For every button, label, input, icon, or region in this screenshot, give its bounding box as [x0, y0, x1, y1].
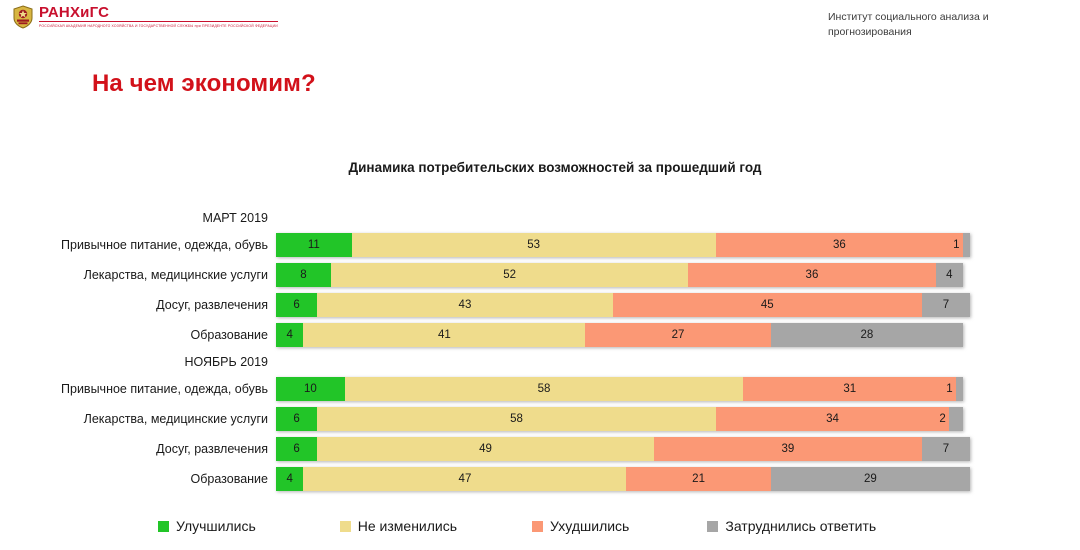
bar-value-label: 45 [761, 299, 774, 311]
bar-value-label: 58 [510, 413, 523, 425]
bar-segment: 21 [626, 467, 770, 491]
bar-segment: 4 [936, 263, 963, 287]
legend-swatch-icon [158, 521, 169, 532]
bar-segment: 49 [317, 437, 654, 461]
chart-row: Досуг, развлечения649397 [0, 434, 1080, 464]
bar-value-label: 1 [953, 239, 959, 251]
legend-label: Не изменились [358, 518, 457, 534]
bar-value-label: 7 [943, 443, 949, 455]
stacked-bar: 1153361 [276, 233, 970, 257]
chart-row-label: Образование [0, 328, 276, 342]
chart-row: Лекарства, медицинские услуги852364 [0, 260, 1080, 290]
bar-value-label: 6 [293, 299, 299, 311]
bar-segment: 47 [303, 467, 626, 491]
group-header: МАРТ 2019 [0, 206, 276, 230]
stacked-bar: 1058311 [276, 377, 970, 401]
bar-value-label: 29 [864, 473, 877, 485]
legend-item[interactable]: Не изменились [340, 518, 457, 534]
stacked-bar: 649397 [276, 437, 970, 461]
legend-item[interactable]: Улучшились [158, 518, 256, 534]
chart-legend: УлучшилисьНе изменилисьУхудшилисьЗатрудн… [0, 518, 1080, 534]
bar-segment: 34 [716, 407, 950, 431]
chart-row: Досуг, развлечения643457 [0, 290, 1080, 320]
bar-segment: 6 [276, 407, 317, 431]
bar-segment: 31 [743, 377, 956, 401]
bar-value-label: 58 [538, 383, 551, 395]
logo-wordmark: РАНХиГС РОССИЙСКАЯ АКАДЕМИЯ НАРОДНОГО ХО… [39, 5, 278, 28]
logo-title: РАНХиГС [39, 5, 278, 20]
bar-segment: 7 [922, 293, 970, 317]
bar-value-label: 39 [781, 443, 794, 455]
legend-swatch-icon [707, 521, 718, 532]
bar-value-label: 11 [308, 239, 320, 251]
legend-item[interactable]: Ухудшились [532, 518, 629, 534]
bar-value-label: 21 [692, 473, 705, 485]
bar-segment: 58 [317, 407, 716, 431]
page-title: На чем экономим? [92, 70, 316, 98]
chart-title: Динамика потребительских возможностей за… [0, 160, 1080, 175]
bar-value-label: 36 [806, 269, 819, 281]
bar-segment: 39 [654, 437, 922, 461]
bar-segment: 1 [963, 233, 970, 257]
bar-segment: 29 [771, 467, 970, 491]
bar-segment: 7 [922, 437, 970, 461]
bar-value-label: 31 [843, 383, 856, 395]
logo-subtitle: РОССИЙСКАЯ АКАДЕМИЯ НАРОДНОГО ХОЗЯЙСТВА … [39, 25, 278, 28]
bar-value-label: 52 [503, 269, 516, 281]
stacked-bar: 4412728 [276, 323, 970, 347]
bar-value-label: 8 [300, 269, 306, 281]
bar-value-label: 41 [438, 329, 451, 341]
bar-value-label: 47 [459, 473, 472, 485]
stacked-bar: 643457 [276, 293, 970, 317]
bar-value-label: 7 [943, 299, 949, 311]
chart-row: Образование4412728 [0, 320, 1080, 350]
legend-swatch-icon [340, 521, 351, 532]
stacked-bar-chart: МАРТ 2019Привычное питание, одежда, обув… [0, 206, 1080, 494]
bar-segment: 8 [276, 263, 331, 287]
bar-segment: 10 [276, 377, 345, 401]
chart-row-label: Досуг, развлечения [0, 298, 276, 312]
chart-row: Лекарства, медицинские услуги658342 [0, 404, 1080, 434]
chart-row-label: Привычное питание, одежда, обувь [0, 382, 276, 396]
slide: РАНХиГС РОССИЙСКАЯ АКАДЕМИЯ НАРОДНОГО ХО… [0, 0, 1080, 550]
bar-segment: 4 [276, 323, 303, 347]
bar-value-label: 53 [527, 239, 540, 251]
legend-swatch-icon [532, 521, 543, 532]
bar-segment: 53 [352, 233, 716, 257]
chart-row-label: Лекарства, медицинские услуги [0, 268, 276, 282]
chart-row: Привычное питание, одежда, обувь1058311 [0, 374, 1080, 404]
bar-segment: 11 [276, 233, 352, 257]
bar-segment: 36 [688, 263, 935, 287]
bar-value-label: 28 [861, 329, 874, 341]
bar-value-label: 4 [287, 473, 293, 485]
chart-row: Образование4472129 [0, 464, 1080, 494]
chart-row-label: Досуг, развлечения [0, 442, 276, 456]
bar-value-label: 6 [293, 413, 299, 425]
bar-segment: 36 [716, 233, 963, 257]
bar-value-label: 36 [833, 239, 846, 251]
bar-value-label: 1 [946, 383, 952, 395]
bar-segment: 58 [345, 377, 744, 401]
bar-segment: 28 [771, 323, 963, 347]
legend-label: Улучшились [176, 518, 256, 534]
legend-label: Ухудшились [550, 518, 629, 534]
bar-segment: 6 [276, 293, 317, 317]
bar-value-label: 10 [304, 383, 317, 395]
bar-segment: 27 [585, 323, 771, 347]
group-header: НОЯБРЬ 2019 [0, 350, 276, 374]
logo-divider [39, 21, 278, 22]
bar-segment: 6 [276, 437, 317, 461]
bar-value-label: 4 [287, 329, 293, 341]
bar-segment: 52 [331, 263, 688, 287]
bar-value-label: 43 [459, 299, 472, 311]
stacked-bar: 4472129 [276, 467, 970, 491]
chart-row-label: Образование [0, 472, 276, 486]
chart-row-label: Привычное питание, одежда, обувь [0, 238, 276, 252]
bar-segment: 1 [956, 377, 963, 401]
chart-row-label: Лекарства, медицинские услуги [0, 412, 276, 426]
legend-label: Затруднились ответить [725, 518, 876, 534]
bar-segment: 4 [276, 467, 303, 491]
bar-value-label: 2 [939, 413, 945, 425]
legend-item[interactable]: Затруднились ответить [707, 518, 876, 534]
stacked-bar: 658342 [276, 407, 970, 431]
bar-value-label: 4 [946, 269, 952, 281]
chart-row: Привычное питание, одежда, обувь1153361 [0, 230, 1080, 260]
bar-value-label: 34 [826, 413, 839, 425]
bar-value-label: 27 [672, 329, 685, 341]
bar-value-label: 49 [479, 443, 492, 455]
ranepa-emblem-icon [12, 5, 34, 29]
bar-segment: 45 [613, 293, 922, 317]
ranepa-logo: РАНХиГС РОССИЙСКАЯ АКАДЕМИЯ НАРОДНОГО ХО… [12, 5, 278, 29]
institute-title: Институт социального анализа и прогнозир… [828, 10, 1068, 40]
bar-segment: 41 [303, 323, 585, 347]
bar-segment: 43 [317, 293, 612, 317]
stacked-bar: 852364 [276, 263, 970, 287]
bar-value-label: 6 [293, 443, 299, 455]
bar-segment: 2 [949, 407, 963, 431]
